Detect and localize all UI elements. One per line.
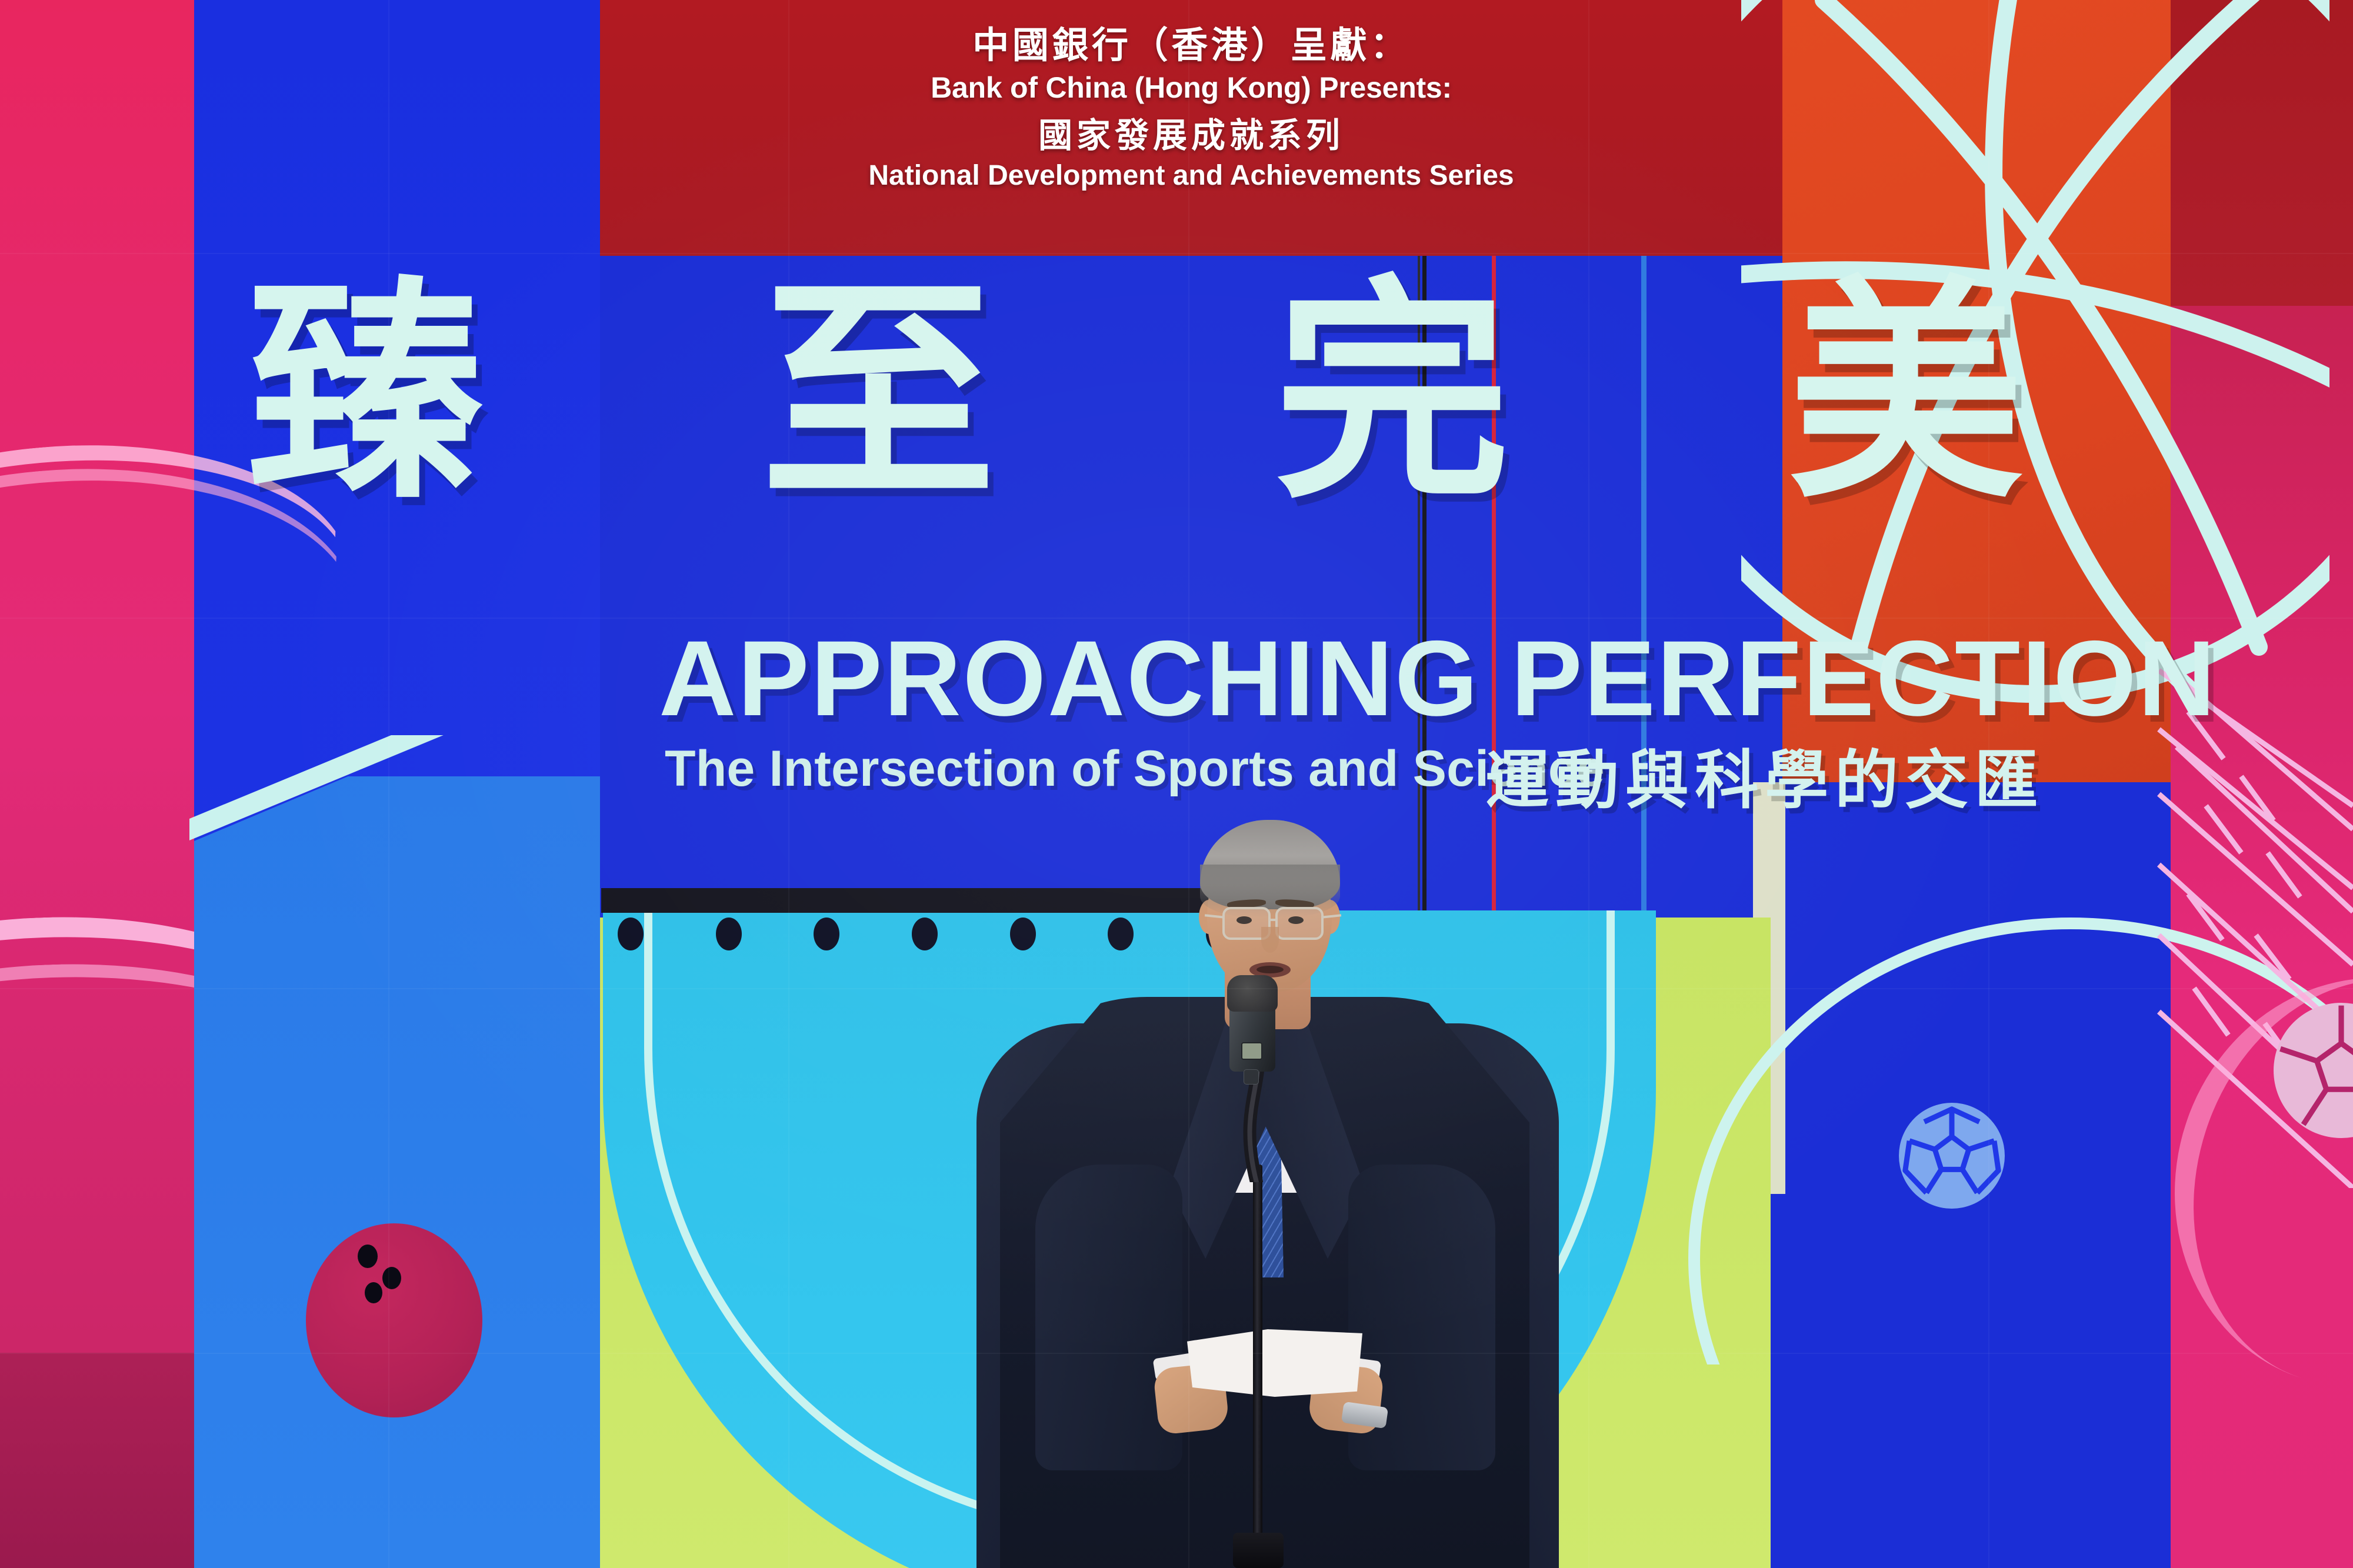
presenter-english: Bank of China (Hong Kong) Presents: bbox=[647, 72, 1735, 104]
event-stage-photo: 中國銀行（香港）呈獻： Bank of China (Hong Kong) Pr… bbox=[0, 0, 2353, 1568]
bowling-hole bbox=[382, 1267, 401, 1289]
diagonal-stripe bbox=[189, 735, 613, 870]
soccer-ball-icon bbox=[1899, 1103, 2005, 1209]
speech-notes bbox=[1187, 1329, 1362, 1397]
series-english: National Development and Achievements Se… bbox=[647, 161, 1735, 191]
microphone-display bbox=[1241, 1042, 1262, 1060]
microphone-base bbox=[1233, 1533, 1284, 1568]
nose bbox=[1261, 927, 1279, 953]
title-char-2: 至 bbox=[761, 276, 996, 512]
microphone-gooseneck bbox=[1235, 1053, 1282, 1182]
main-title-english: APPROACHING PERFECTION bbox=[659, 616, 2141, 740]
microphone-windscreen bbox=[1227, 975, 1278, 1012]
pink-shadow-band bbox=[0, 1353, 194, 1568]
subtitle-english: The Intersection of Sports and Science bbox=[665, 740, 1605, 798]
eyeglasses-bridge bbox=[1270, 919, 1277, 921]
speaker bbox=[1000, 812, 1529, 1568]
subtitle-chinese: 運動與科學的交匯 bbox=[1485, 729, 2044, 821]
presenter-chinese: 中國銀行（香港）呈獻： bbox=[647, 26, 1735, 66]
lane-dot bbox=[716, 918, 742, 950]
microphone-stand bbox=[1253, 1165, 1262, 1568]
backdrop-panel-pink-left bbox=[0, 0, 194, 1568]
bowling-hole bbox=[358, 1245, 378, 1268]
lane-dot bbox=[618, 918, 644, 950]
lane-dot bbox=[912, 918, 938, 950]
microphone-button[interactable] bbox=[1244, 1069, 1259, 1085]
bowling-hole bbox=[365, 1282, 382, 1303]
mouth-interior bbox=[1257, 966, 1284, 973]
series-chinese: 國家發展成就系列 bbox=[647, 118, 1735, 155]
bowling-ball-icon bbox=[306, 1223, 482, 1417]
header-text-block: 中國銀行（香港）呈獻： Bank of China (Hong Kong) Pr… bbox=[647, 26, 1735, 191]
eyeglasses-lens-right bbox=[1275, 907, 1324, 940]
lane-dot bbox=[814, 918, 839, 950]
title-char-3: 完 bbox=[1275, 276, 1510, 512]
blue-wedge bbox=[194, 776, 600, 1568]
